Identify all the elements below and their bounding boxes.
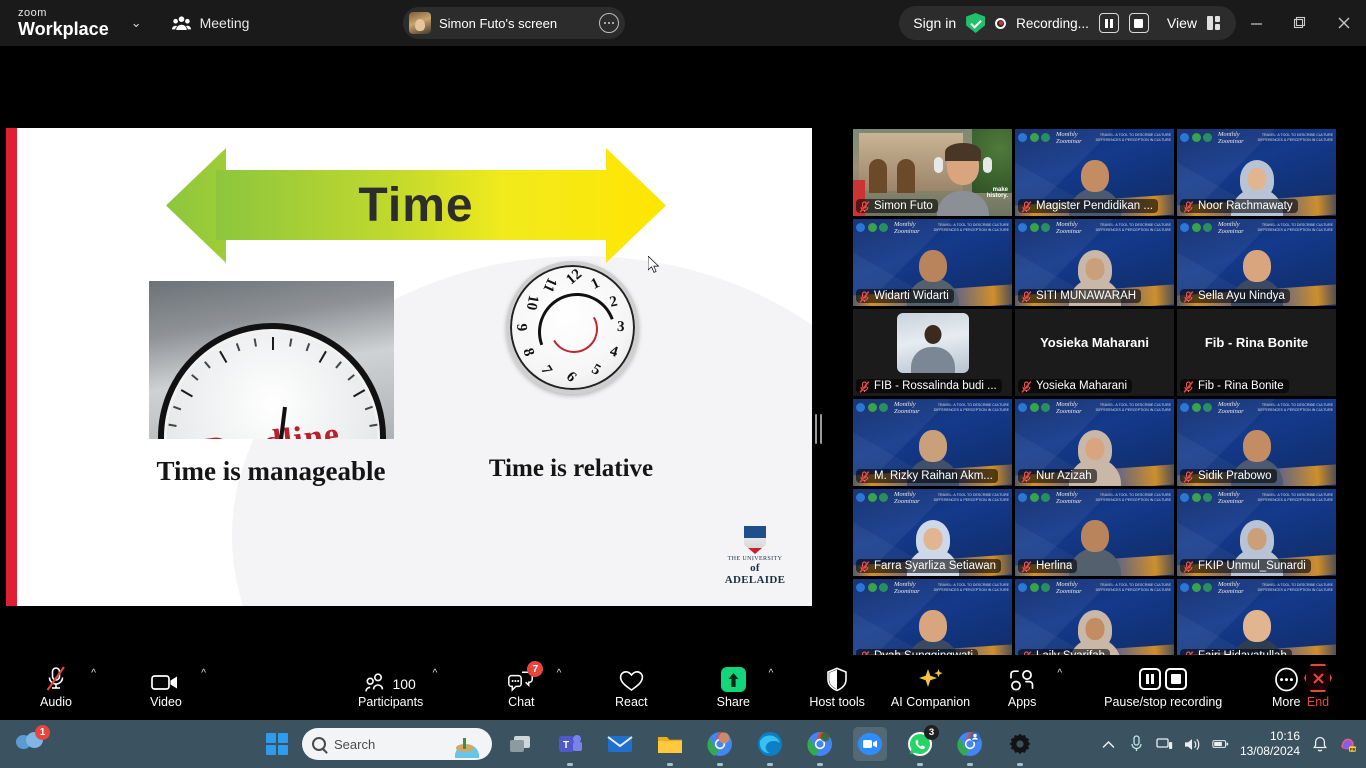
microphone-muted-icon <box>45 666 67 692</box>
participant-center-name: Fib - Rina Bonite <box>1177 335 1336 350</box>
institution-logos <box>1180 403 1212 412</box>
gallery-row: Monthly ZoominarTRAVEL: A TOOL TO DESCRI… <box>853 579 1335 666</box>
slide-accent-bar <box>6 128 17 606</box>
zoominar-watermark: Monthly Zoominar <box>1056 221 1090 235</box>
meeting-label: Meeting <box>200 15 250 31</box>
shared-screen-viewport[interactable]: Time Deadline 121234567891011 Time is ma… <box>6 102 812 655</box>
participant-tile[interactable]: Monthly ZoominarTRAVEL: A TOOL TO DESCRI… <box>1015 489 1174 576</box>
background-banner: Monthly ZoominarTRAVEL: A TOOL TO DESCRI… <box>1018 581 1171 594</box>
pause-stop-recording-label: Pause/stop recording <box>1104 695 1222 709</box>
search-placeholder: Search <box>334 737 375 752</box>
mic-muted-icon <box>1021 380 1032 392</box>
zoominar-watermark: Monthly Zoominar <box>1218 221 1252 235</box>
shield-icon <box>826 666 848 692</box>
institution-logos <box>1018 493 1050 502</box>
participant-tile[interactable]: Fib - Rina BoniteFib - Rina Bonite <box>1177 309 1336 396</box>
participant-name: FIB - Rossalinda budi ... <box>874 380 997 392</box>
mic-muted-icon <box>859 560 870 572</box>
participant-name: Herlina <box>1036 560 1072 572</box>
video-chevron-up-icon[interactable]: ^ <box>201 668 206 679</box>
microsoft-teams-icon[interactable]: T <box>553 727 587 761</box>
end-call-icon <box>1304 666 1332 692</box>
view-layout-icon[interactable] <box>1207 16 1222 30</box>
participant-tile[interactable]: Monthly ZoominarTRAVEL: A TOOL TO DESCRI… <box>1177 579 1336 666</box>
participant-name-bar: Yosieka Maharani <box>1018 379 1132 393</box>
microsoft-edge-icon[interactable] <box>753 727 787 761</box>
share-chevron-up-icon[interactable]: ^ <box>769 668 774 679</box>
zoominar-tagline: TRAVEL: A TOOL TO DESCRIBE CULTURE DIFFE… <box>1093 133 1171 143</box>
participant-tile[interactable]: Monthly ZoominarTRAVEL: A TOOL TO DESCRI… <box>1177 489 1336 576</box>
clock-number: 9 <box>512 323 529 332</box>
mic-muted-icon <box>1021 470 1032 482</box>
mouse-cursor <box>648 256 660 273</box>
participant-name-bar: Widarti Widarti <box>856 289 954 303</box>
gallery-row: makehistory.Simon FutoMonthly ZoominarTR… <box>853 129 1335 216</box>
participant-name-bar: FIB - Rossalinda budi ... <box>856 379 1002 393</box>
participant-tile[interactable]: Monthly ZoominarTRAVEL: A TOOL TO DESCRI… <box>1015 399 1174 486</box>
stop-recording-button[interactable] <box>1129 13 1149 33</box>
zoominar-tagline: TRAVEL: A TOOL TO DESCRIBE CULTURE DIFFE… <box>1255 223 1333 233</box>
taskbar-date: 13/08/2024 <box>1240 744 1300 759</box>
window-controls <box>1234 0 1366 46</box>
ai-companion-button[interactable]: AI Companion <box>891 659 970 717</box>
brand-zoom-text: zoom <box>18 8 109 19</box>
zoominar-tagline: TRAVEL: A TOOL TO DESCRIBE CULTURE DIFFE… <box>931 403 1009 413</box>
apps-icon <box>1009 666 1035 692</box>
participants-icon: 100 <box>365 666 415 692</box>
shield-check-icon[interactable] <box>966 13 985 33</box>
titlebar-right-cluster: Sign in Recording... View <box>899 6 1236 40</box>
video-label: Video <box>150 695 182 709</box>
institution-logos <box>1018 223 1050 232</box>
participant-center-name: Yosieka Maharani <box>1015 335 1174 350</box>
recording-dot-icon <box>995 18 1006 29</box>
participant-name-bar: SITI MUNAWARAH <box>1018 289 1141 303</box>
share-button[interactable]: Share ^ <box>707 659 759 717</box>
chat-button[interactable]: 7 Chat ^ <box>495 659 547 717</box>
chat-chevron-up-icon[interactable]: ^ <box>557 668 562 679</box>
participant-tile[interactable]: Monthly ZoominarTRAVEL: A TOOL TO DESCRI… <box>853 399 1012 486</box>
caption-time-relative: Time is relative <box>426 455 716 483</box>
share-label: Share <box>717 695 750 709</box>
meeting-tab[interactable]: Meeting <box>172 15 250 31</box>
background-banner: Monthly ZoominarTRAVEL: A TOOL TO DESCRI… <box>856 491 1009 504</box>
recording-status-label: Recording... <box>1016 16 1089 31</box>
participant-name: Noor Rachmawaty <box>1198 200 1293 212</box>
zoominar-tagline: TRAVEL: A TOOL TO DESCRIBE CULTURE DIFFE… <box>1093 583 1171 593</box>
mic-muted-icon <box>859 380 870 392</box>
svg-text:T: T <box>563 740 569 751</box>
brand-workplace-text: Workplace <box>18 20 109 38</box>
tray-chevron-up-icon[interactable] <box>1100 736 1117 753</box>
task-view-icon[interactable] <box>503 727 537 761</box>
taskbar-search[interactable]: Search <box>302 728 492 760</box>
zoominar-tagline: TRAVEL: A TOOL TO DESCRIBE CULTURE DIFFE… <box>931 583 1009 593</box>
participants-button[interactable]: 100 Participants ^ <box>358 659 423 717</box>
institution-logos <box>856 583 888 592</box>
background-banner: Monthly ZoominarTRAVEL: A TOOL TO DESCRI… <box>856 401 1009 414</box>
taskbar-left-cluster: 1 <box>14 729 48 759</box>
participant-name-bar: Nur Azizah <box>1018 469 1097 483</box>
zoominar-watermark: Monthly Zoominar <box>1218 581 1252 595</box>
institution-logos <box>1180 493 1212 502</box>
participant-name-bar: Magister Pendidikan ... <box>1018 199 1158 213</box>
institution-logos <box>856 223 888 232</box>
zoominar-watermark: Monthly Zoominar <box>1218 491 1252 505</box>
zoominar-tagline: TRAVEL: A TOOL TO DESCRIBE CULTURE DIFFE… <box>1255 583 1333 593</box>
clock-number: 12 <box>563 266 585 289</box>
mic-muted-icon <box>1183 560 1194 572</box>
volume-icon[interactable] <box>1184 736 1201 753</box>
deadline-clock-face: Deadline <box>158 323 386 439</box>
start-button[interactable] <box>266 733 288 755</box>
ai-companion-label: AI Companion <box>891 695 970 709</box>
chat-label: Chat <box>508 695 534 709</box>
zoominar-watermark: Monthly Zoominar <box>1056 401 1090 415</box>
participant-tile[interactable]: Yosieka MaharaniYosieka Maharani <box>1015 309 1174 396</box>
weather-widget[interactable]: 1 <box>14 729 48 759</box>
participant-name: Farra Syarliza Setiawan <box>874 560 996 572</box>
background-banner: Monthly ZoominarTRAVEL: A TOOL TO DESCRI… <box>1180 221 1333 234</box>
background-banner: Monthly ZoominarTRAVEL: A TOOL TO DESCRI… <box>1018 131 1171 144</box>
share-screen-icon <box>721 666 746 692</box>
participant-name: Simon Futo <box>874 200 933 212</box>
institution-logos <box>1018 133 1050 142</box>
participant-name: SITI MUNAWARAH <box>1036 290 1136 302</box>
participant-name-bar: Farra Syarliza Setiawan <box>856 559 1001 573</box>
gallery-row: FIB - Rossalinda budi ...Yosieka Maharan… <box>853 309 1335 396</box>
mic-muted-icon <box>1183 380 1194 392</box>
zoominar-watermark: Monthly Zoominar <box>894 491 928 505</box>
zoominar-tagline: TRAVEL: A TOOL TO DESCRIBE CULTURE DIFFE… <box>1255 493 1333 503</box>
participants-count: 100 <box>392 676 415 692</box>
participant-gallery[interactable]: makehistory.Simon FutoMonthly ZoominarTR… <box>853 129 1335 675</box>
mic-muted-icon <box>1021 200 1032 212</box>
zoominar-tagline: TRAVEL: A TOOL TO DESCRIBE CULTURE DIFFE… <box>1255 403 1333 413</box>
mic-muted-icon <box>1183 470 1194 482</box>
apps-button[interactable]: Apps ^ <box>996 659 1048 717</box>
zoominar-watermark: Monthly Zoominar <box>894 581 928 595</box>
gallery-row: Monthly ZoominarTRAVEL: A TOOL TO DESCRI… <box>853 399 1335 486</box>
close-button[interactable] <box>1322 0 1366 46</box>
deadline-clock-ticks <box>164 329 380 439</box>
institution-logos <box>1180 583 1212 592</box>
arrow-label: Time <box>166 148 666 263</box>
sign-in-button[interactable]: Sign in <box>913 15 956 31</box>
participant-avatar-thumbnail <box>897 313 969 373</box>
background-banner: Monthly ZoominarTRAVEL: A TOOL TO DESCRI… <box>1180 581 1333 594</box>
zoominar-watermark: Monthly Zoominar <box>1056 131 1090 145</box>
copilot-icon[interactable]: PRE <box>1339 736 1356 753</box>
zoominar-watermark: Monthly Zoominar <box>894 401 928 415</box>
participant-name: Yosieka Maharani <box>1036 380 1127 392</box>
taskbar-clock[interactable]: 10:16 13/08/2024 <box>1240 729 1300 759</box>
zoom-app-icon[interactable] <box>853 727 887 761</box>
participant-name-bar: Simon Futo <box>856 199 938 213</box>
university-crest-icon <box>744 526 766 554</box>
zoominar-watermark: Monthly Zoominar <box>1218 401 1252 415</box>
mic-muted-icon <box>859 290 870 302</box>
institution-logos <box>856 403 888 412</box>
zoominar-tagline: TRAVEL: A TOOL TO DESCRIBE CULTURE DIFFE… <box>931 223 1009 233</box>
zoominar-tagline: TRAVEL: A TOOL TO DESCRIBE CULTURE DIFFE… <box>1093 223 1171 233</box>
zoominar-tagline: TRAVEL: A TOOL TO DESCRIBE CULTURE DIFFE… <box>1255 133 1333 143</box>
clock-number: 3 <box>617 319 625 336</box>
participant-figure <box>936 141 990 216</box>
host-tools-label: Host tools <box>809 695 865 709</box>
apps-chevron-up-icon[interactable]: ^ <box>1057 668 1062 679</box>
background-banner: Monthly ZoominarTRAVEL: A TOOL TO DESCRI… <box>1018 221 1171 234</box>
participant-tile[interactable]: Monthly ZoominarTRAVEL: A TOOL TO DESCRI… <box>1015 579 1174 666</box>
clock-number: 10 <box>522 294 541 312</box>
chat-icon: 7 <box>508 666 534 692</box>
network-icon[interactable] <box>1156 736 1173 753</box>
institution-logos <box>1180 133 1212 142</box>
settings-gear-icon[interactable] <box>1003 727 1037 761</box>
shared-screen-pill[interactable]: Simon Futo's screen <box>403 7 625 39</box>
gallery-row: Monthly ZoominarTRAVEL: A TOOL TO DESCRI… <box>853 489 1335 576</box>
participant-name-bar: Herlina <box>1018 559 1077 573</box>
time-arrow-graphic: Time <box>166 148 666 263</box>
university-logo: THE UNIVERSITY of ADELAIDE <box>724 526 786 586</box>
end-meeting-button[interactable]: End <box>1292 659 1344 717</box>
taskbar-system-tray: 10:16 13/08/2024 PRE <box>1100 729 1356 759</box>
mic-muted-icon <box>1021 290 1032 302</box>
background-banner: Monthly ZoominarTRAVEL: A TOOL TO DESCRI… <box>856 221 1009 234</box>
participant-tile[interactable]: Monthly ZoominarTRAVEL: A TOOL TO DESCRI… <box>853 579 1012 666</box>
participant-name: Nur Azizah <box>1036 470 1092 482</box>
end-label: End <box>1307 695 1329 709</box>
participant-tile[interactable]: Monthly ZoominarTRAVEL: A TOOL TO DESCRI… <box>1015 129 1174 216</box>
participant-name-bar: M. Rizky Raihan Akm... <box>856 469 998 483</box>
react-button[interactable]: React <box>605 659 657 717</box>
deadline-clock-image: Deadline <box>149 281 394 439</box>
presenter-thumbnail <box>409 12 431 34</box>
taskbar-time: 10:16 <box>1240 729 1300 744</box>
more-options-icon[interactable] <box>599 13 619 33</box>
participant-name: Sella Ayu Nindya <box>1198 290 1285 302</box>
react-label: React <box>615 695 648 709</box>
apps-label: Apps <box>1008 695 1037 709</box>
meeting-stage: Time Deadline 121234567891011 Time is ma… <box>0 46 1366 655</box>
participant-tile[interactable]: FIB - Rossalinda budi ... <box>853 309 1012 396</box>
background-banner: Monthly ZoominarTRAVEL: A TOOL TO DESCRI… <box>856 581 1009 594</box>
chrome-icon[interactable] <box>803 727 837 761</box>
relative-clock-image: 121234567891011 <box>506 261 639 394</box>
audio-label: Audio <box>40 695 72 709</box>
notification-bell-icon[interactable] <box>1311 736 1328 753</box>
participant-name: Fib - Rina Bonite <box>1198 380 1284 392</box>
brand-chevron-down-icon[interactable]: ⌄ <box>131 15 142 31</box>
search-icon <box>312 737 326 751</box>
audio-button[interactable]: Audio ^ <box>30 659 82 717</box>
institution-logos <box>1018 583 1050 592</box>
background-banner: Monthly ZoominarTRAVEL: A TOOL TO DESCRI… <box>1180 491 1333 504</box>
camera-icon <box>151 666 181 692</box>
windows-taskbar: 1 Search T <box>0 720 1366 768</box>
background-banner: Monthly ZoominarTRAVEL: A TOOL TO DESCRI… <box>1018 401 1171 414</box>
mic-muted-icon <box>1183 290 1194 302</box>
clock-number: 7 <box>537 363 555 378</box>
participant-name-bar: Sidik Prabowo <box>1180 469 1277 483</box>
participants-chevron-up-icon[interactable]: ^ <box>433 668 438 679</box>
background-banner: Monthly ZoominarTRAVEL: A TOOL TO DESCRI… <box>1180 401 1333 414</box>
minimize-button[interactable] <box>1234 0 1278 46</box>
chrome-profile-icon[interactable] <box>703 727 737 761</box>
participant-name-bar: FKIP Unmul_Sunardi <box>1180 559 1311 573</box>
taskbar-center-cluster: Search T 3 <box>266 727 1042 761</box>
zoominar-tagline: TRAVEL: A TOOL TO DESCRIBE CULTURE DIFFE… <box>931 493 1009 503</box>
meeting-toolbar: Audio ^ Video ^ 100 Participants ^ <box>0 655 1366 720</box>
recording-controls-icon <box>1139 666 1187 692</box>
university-line2: of ADELAIDE <box>724 562 786 586</box>
participant-tile[interactable]: Monthly ZoominarTRAVEL: A TOOL TO DESCRI… <box>1015 219 1174 306</box>
participant-tile[interactable]: Monthly ZoominarTRAVEL: A TOOL TO DESCRI… <box>1177 219 1336 306</box>
zoominar-watermark: Monthly Zoominar <box>894 221 928 235</box>
mic-muted-icon <box>859 200 870 212</box>
institution-logos <box>1018 403 1050 412</box>
weather-badge: 1 <box>35 725 50 740</box>
participant-tile[interactable]: Monthly ZoominarTRAVEL: A TOOL TO DESCRI… <box>1177 399 1336 486</box>
people-icon <box>172 16 191 31</box>
participant-tile[interactable]: makehistory.Simon Futo <box>853 129 1012 216</box>
participant-name: Magister Pendidikan ... <box>1036 200 1153 212</box>
zoom-title-bar: zoom Workplace ⌄ Meeting Simon Futo's sc… <box>0 0 1366 46</box>
panel-resize-handle[interactable] <box>813 411 823 447</box>
zoominar-tagline: TRAVEL: A TOOL TO DESCRIBE CULTURE DIFFE… <box>1093 403 1171 413</box>
chrome-account-icon[interactable] <box>953 727 987 761</box>
host-tools-button[interactable]: Host tools <box>809 659 865 717</box>
mic-muted-icon <box>1021 560 1032 572</box>
participant-tile[interactable]: Monthly ZoominarTRAVEL: A TOOL TO DESCRI… <box>853 219 1012 306</box>
participant-name: FKIP Unmul_Sunardi <box>1198 560 1306 572</box>
whatsapp-badge: 3 <box>924 725 939 740</box>
zoominar-watermark: Monthly Zoominar <box>1218 131 1252 145</box>
mail-icon[interactable] <box>603 727 637 761</box>
zoominar-tagline: TRAVEL: A TOOL TO DESCRIBE CULTURE DIFFE… <box>1093 493 1171 503</box>
participant-tile[interactable]: Monthly ZoominarTRAVEL: A TOOL TO DESCRI… <box>853 489 1012 576</box>
clock-number: 11 <box>538 274 559 294</box>
view-button[interactable]: View <box>1167 15 1197 31</box>
search-illustration <box>446 736 488 758</box>
pause-recording-button[interactable] <box>1099 13 1119 33</box>
participant-name-bar: Noor Rachmawaty <box>1180 199 1298 213</box>
shared-screen-title: Simon Futo's screen <box>439 16 591 31</box>
chat-unread-badge: 7 <box>527 661 543 677</box>
clock-number: 6 <box>562 369 579 386</box>
maximize-restore-button[interactable] <box>1278 0 1322 46</box>
participant-name: Widarti Widarti <box>874 290 949 302</box>
background-banner: Monthly ZoominarTRAVEL: A TOOL TO DESCRI… <box>1018 491 1171 504</box>
presentation-slide: Time Deadline 121234567891011 Time is ma… <box>6 128 812 606</box>
sparkle-icon <box>918 666 944 692</box>
file-explorer-icon[interactable] <box>653 727 687 761</box>
battery-icon[interactable] <box>1212 736 1229 753</box>
participant-name: Sidik Prabowo <box>1198 470 1272 482</box>
video-button[interactable]: Video ^ <box>140 659 192 717</box>
background-banner: Monthly ZoominarTRAVEL: A TOOL TO DESCRI… <box>1180 131 1333 144</box>
clock-number: 8 <box>518 346 536 358</box>
zoominar-watermark: Monthly Zoominar <box>1056 581 1090 595</box>
svg-text:PRE: PRE <box>1350 747 1356 752</box>
institution-logos <box>1180 223 1212 232</box>
participant-name-bar: Fib - Rina Bonite <box>1180 379 1289 393</box>
clock-number: 1 <box>589 275 603 294</box>
zoom-brand-logo[interactable]: zoom Workplace <box>18 8 109 38</box>
whatsapp-icon[interactable]: 3 <box>903 727 937 761</box>
audio-chevron-up-icon[interactable]: ^ <box>91 668 96 679</box>
clock-number: 2 <box>609 293 620 311</box>
participant-name: M. Rizky Raihan Akm... <box>874 470 993 482</box>
mic-muted-icon <box>859 470 870 482</box>
make-history-watermark: makehistory. <box>987 187 1008 200</box>
pause-stop-recording-button[interactable]: Pause/stop recording <box>1104 659 1222 717</box>
zoominar-watermark: Monthly Zoominar <box>1056 491 1090 505</box>
institution-logos <box>856 493 888 502</box>
mic-muted-icon <box>1183 200 1194 212</box>
caption-time-manageable: Time is manageable <box>151 455 391 488</box>
participant-tile[interactable]: Monthly ZoominarTRAVEL: A TOOL TO DESCRI… <box>1177 129 1336 216</box>
participants-label: Participants <box>358 695 423 709</box>
microphone-tray-icon[interactable] <box>1128 736 1145 753</box>
gallery-row: Monthly ZoominarTRAVEL: A TOOL TO DESCRI… <box>853 219 1335 306</box>
heart-icon <box>619 666 644 692</box>
participant-name-bar: Sella Ayu Nindya <box>1180 289 1290 303</box>
